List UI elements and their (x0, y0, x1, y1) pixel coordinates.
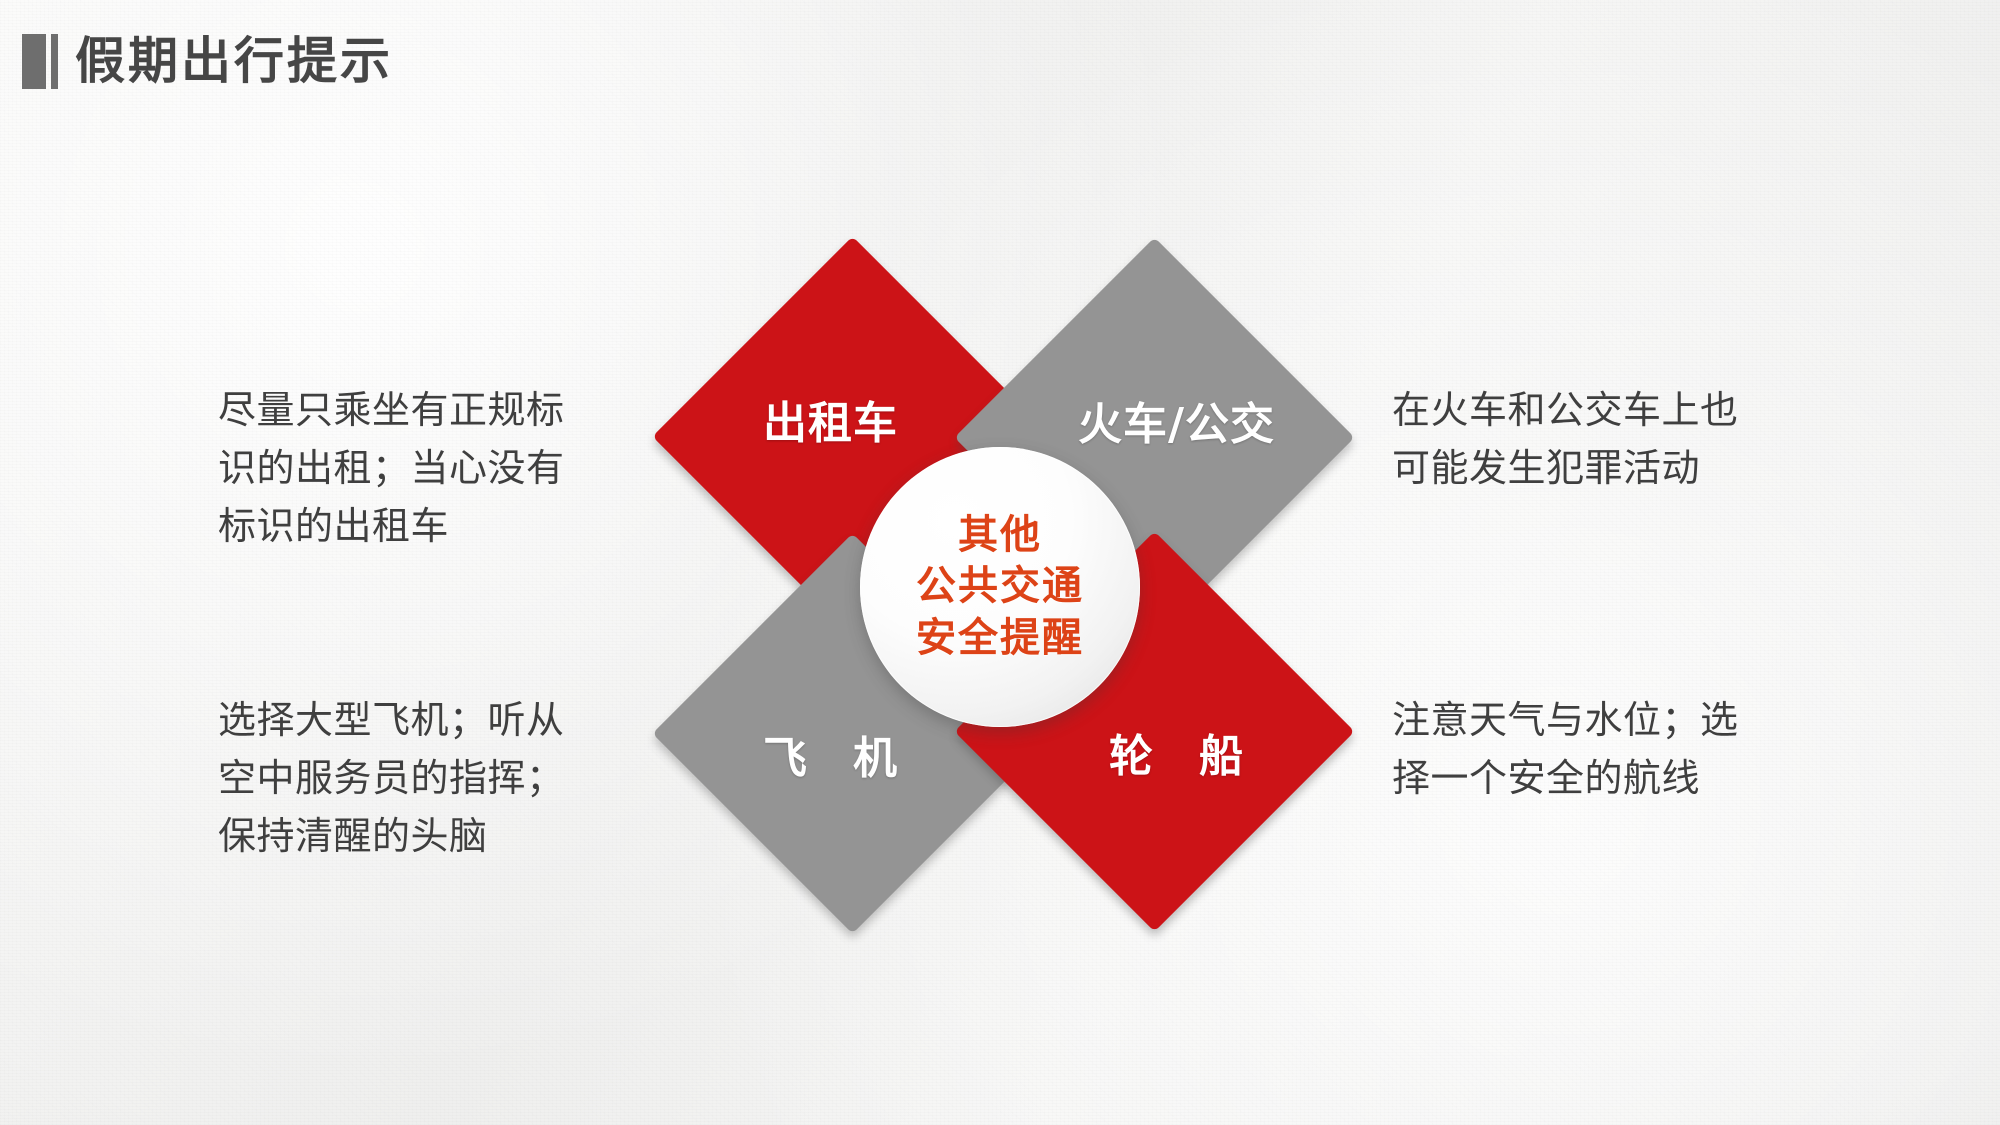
hub-line-3: 安全提醒 (916, 613, 1084, 664)
center-hub-circle[interactable]: 其他 公共交通 安全提醒 (860, 447, 1140, 727)
caption-taxi: 尽量只乘坐有正规标 识的出租；当心没有 标识的出租车 (218, 382, 648, 555)
hub-line-2: 公共交通 (916, 561, 1084, 612)
transport-safety-diagram: 出租车 火车/公交 飞 机 轮 船 其他 公共交通 安全提醒 尽量只乘坐有正规标… (0, 0, 2000, 1125)
slide-canvas: 假期出行提示 出租车 火车/公交 飞 机 轮 船 其他 公共交通 安全提醒 尽量… (0, 0, 2000, 1125)
caption-plane: 选择大型飞机；听从 空中服务员的指挥； 保持清醒的头脑 (218, 692, 648, 865)
caption-ship: 注意天气与水位；选 择一个安全的航线 (1392, 692, 1842, 808)
hub-line-1: 其他 (958, 510, 1042, 561)
caption-train-bus: 在火车和公交车上也 可能发生犯罪活动 (1392, 382, 1842, 498)
